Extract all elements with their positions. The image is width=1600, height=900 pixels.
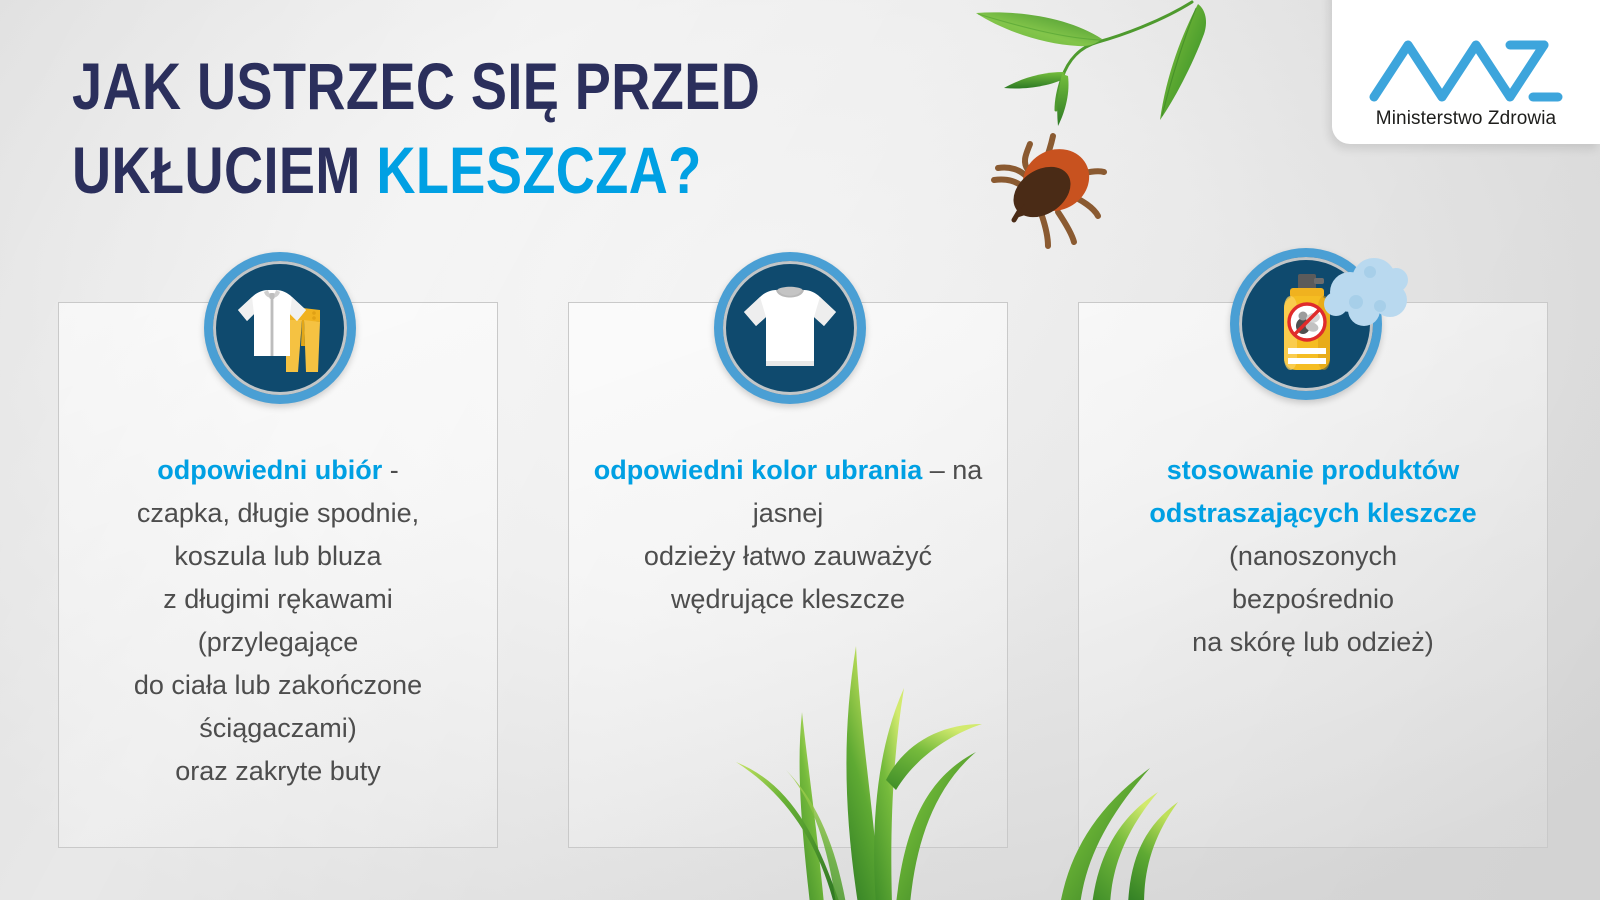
title-line-1: JAK USTRZEC SIĘ PRZED [72,44,695,128]
infographic-canvas: odpowiedni ubiór - czapka, długie spodni… [0,0,1600,900]
title-line-2-plain: UKŁUCIEM [72,133,376,207]
card-clothing-text: odpowiedni ubiór - czapka, długie spodni… [59,449,497,793]
repellent-spray-icon [1230,248,1382,400]
title-line-2-accent: KLESZCZA? [376,133,701,207]
ministry-logo: Ministerstwo Zdrowia [1332,0,1600,144]
title-line-2: UKŁUCIEM KLESZCZA? [72,128,695,212]
card-repellent-lead: stosowanie produktów odstraszających kle… [1149,455,1476,528]
card-color-text: odpowiedni kolor ubrania – na jasnej odz… [569,449,1007,621]
jacket-and-trousers-icon [204,252,356,404]
card-repellent-text: stosowanie produktów odstraszających kle… [1079,449,1547,664]
logo-text: Ministerstwo Zdrowia [1376,108,1556,130]
card-repellent-body: (nanoszonych bezpośrednio na skórę lub o… [1192,541,1434,657]
mz-zigzag-icon [1368,37,1564,103]
card-clothing-lead: odpowiedni ubiór [157,455,382,485]
tick-illustration [958,108,1108,258]
leaf-branch-illustration [930,0,1220,129]
page-title: JAK USTRZEC SIĘ PRZED UKŁUCIEM KLESZCZA? [72,44,832,212]
card-color-lead: odpowiedni kolor ubrania [594,455,923,485]
tshirt-icon [714,252,866,404]
spray-cloud-icon [1316,254,1408,332]
card-clothing-body: - czapka, długie spodnie, koszula lub bl… [134,455,422,786]
